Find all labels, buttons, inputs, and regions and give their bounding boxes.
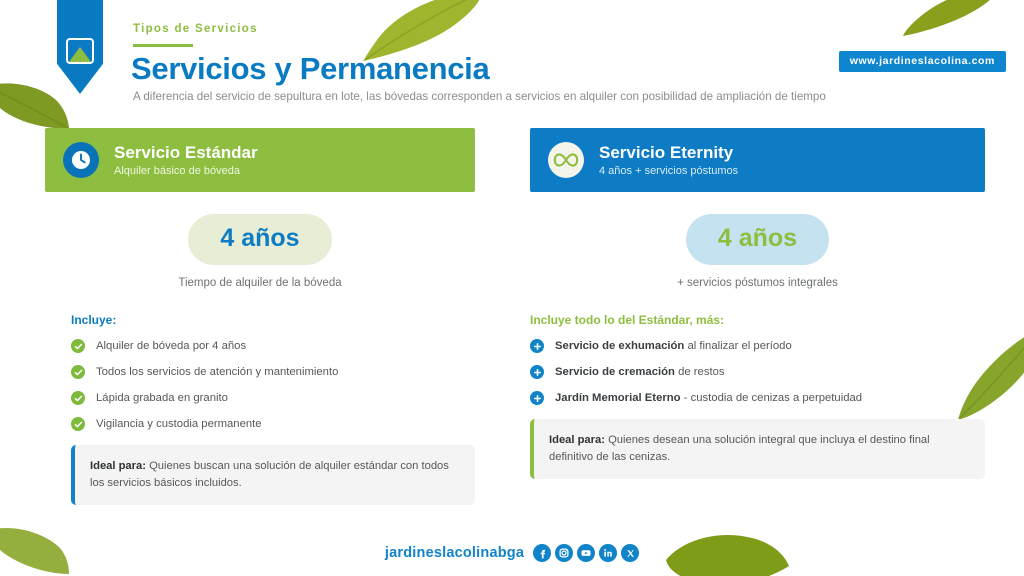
duration-pill-eternity: 4 años: [686, 214, 829, 265]
plus-circle-icon: [530, 339, 544, 353]
list-item-text: Vigilancia y custodia permanente: [96, 417, 262, 431]
ideal-note-standard: Ideal para: Quienes buscan una solución …: [71, 445, 475, 504]
column-standard: Servicio Estándar Alquiler básico de bóv…: [45, 128, 475, 505]
ideal-note-lead: Ideal para:: [90, 460, 146, 472]
clock-icon: [63, 142, 99, 178]
social-handle: jardineslacolinabga: [385, 545, 524, 561]
list-item-rest: - custodia de cenizas a perpetuidad: [681, 392, 863, 404]
page-subtitle: A diferencia del servicio de sepultura e…: [133, 90, 826, 103]
list-item: Servicio de cremación de restos: [530, 365, 985, 379]
page-footer: jardineslacolinabga: [0, 544, 1024, 562]
card-title-eternity: Servicio Eternity: [599, 143, 738, 163]
ideal-note-text: Quienes desean una solución integral que…: [549, 434, 930, 462]
instagram-icon[interactable]: [555, 544, 573, 562]
card-title-standard: Servicio Estándar: [114, 143, 258, 163]
list-item: Todos los servicios de atención y manten…: [71, 365, 475, 379]
list-item: Vigilancia y custodia permanente: [71, 417, 475, 431]
page-header: Tipos de Servicios Servicios y Permanenc…: [0, 0, 1024, 120]
linkedin-icon[interactable]: [599, 544, 617, 562]
list-item-text: Servicio de cremación de restos: [555, 365, 725, 379]
list-item: Alquiler de bóveda por 4 años: [71, 339, 475, 353]
brand-logo-pin: [57, 0, 103, 94]
list-item-lead: Servicio de exhumación: [555, 340, 684, 352]
ideal-note-eternity: Ideal para: Quienes desean una solución …: [530, 419, 985, 478]
card-subtitle-eternity: 4 años + servicios póstumos: [599, 165, 738, 177]
website-badge[interactable]: www.jardineslacolina.com: [839, 51, 1006, 72]
check-circle-icon: [71, 391, 85, 405]
list-item: Servicio de exhumación al finalizar el p…: [530, 339, 985, 353]
check-circle-icon: [71, 417, 85, 431]
feature-list-standard: Alquiler de bóveda por 4 años Todos los …: [45, 339, 475, 431]
infinity-icon: [548, 142, 584, 178]
column-eternity: Servicio Eternity 4 años + servicios pós…: [530, 128, 985, 479]
card-header-standard: Servicio Estándar Alquiler básico de bóv…: [45, 128, 475, 192]
duration-pill-wrap-eternity: 4 años + servicios póstumos integrales: [530, 214, 985, 289]
list-item-lead: Servicio de cremación: [555, 366, 675, 378]
ideal-note-lead: Ideal para:: [549, 434, 605, 446]
card-subtitle-standard: Alquiler básico de bóveda: [114, 165, 258, 177]
x-twitter-icon[interactable]: [621, 544, 639, 562]
social-links: [533, 544, 639, 562]
plus-circle-icon: [530, 391, 544, 405]
list-item-rest: al finalizar el período: [684, 340, 791, 352]
duration-caption-standard: Tiempo de alquiler de la bóveda: [45, 277, 475, 289]
check-circle-icon: [71, 365, 85, 379]
list-item: Jardín Memorial Eterno - custodia de cen…: [530, 391, 985, 405]
logo-mountain-shape: [69, 47, 91, 62]
list-item-rest: de restos: [675, 366, 725, 378]
list-item: Lápida grabada en granito: [71, 391, 475, 405]
eyebrow-rule: [133, 44, 193, 47]
check-circle-icon: [71, 339, 85, 353]
duration-caption-eternity: + servicios póstumos integrales: [530, 277, 985, 289]
list-item-text: Lápida grabada en granito: [96, 391, 228, 405]
list-item-lead: Jardín Memorial Eterno: [555, 392, 681, 404]
list-item-text: Todos los servicios de atención y manten…: [96, 365, 338, 379]
youtube-icon[interactable]: [577, 544, 595, 562]
feature-list-eternity: Servicio de exhumación al finalizar el p…: [530, 339, 985, 405]
duration-pill-wrap-standard: 4 años Tiempo de alquiler de la bóveda: [45, 214, 475, 289]
eyebrow-label: Tipos de Servicios: [133, 23, 258, 35]
facebook-icon[interactable]: [533, 544, 551, 562]
list-item-text: Alquiler de bóveda por 4 años: [96, 339, 246, 353]
list-heading-eternity: Incluye todo lo del Estándar, más:: [530, 313, 985, 327]
duration-pill-standard: 4 años: [188, 214, 331, 265]
card-header-eternity: Servicio Eternity 4 años + servicios pós…: [530, 128, 985, 192]
list-item-text: Servicio de exhumación al finalizar el p…: [555, 339, 792, 353]
list-heading-standard: Incluye:: [45, 313, 475, 327]
page-title: Servicios y Permanencia: [131, 51, 489, 87]
mountain-landmark-icon: [66, 38, 94, 64]
list-item-text: Jardín Memorial Eterno - custodia de cen…: [555, 391, 862, 405]
plus-circle-icon: [530, 365, 544, 379]
